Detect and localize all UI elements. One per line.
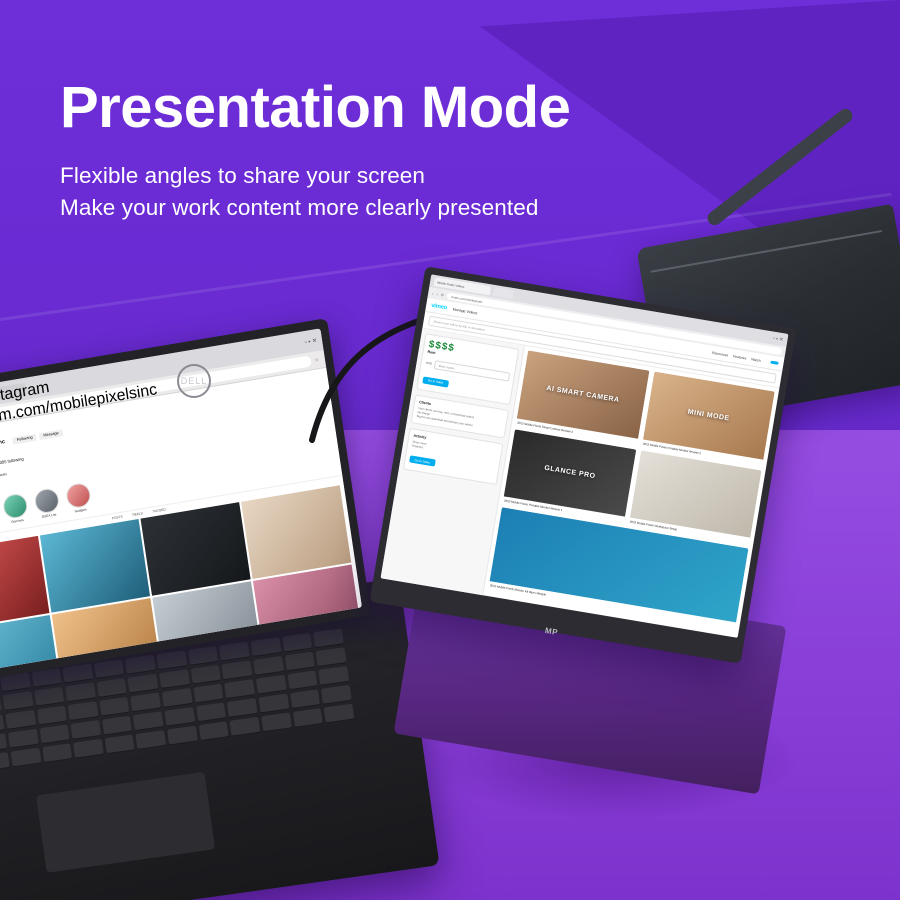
highlight-item[interactable]: Geminos	[2, 492, 30, 525]
highlight-label: Gadgets	[68, 506, 92, 514]
profile-username: mobilepixelsinc	[0, 439, 5, 452]
page-subtitle: Flexible angles to share your screen Mak…	[60, 160, 840, 224]
following-button[interactable]: Following	[12, 433, 37, 444]
back-icon[interactable]: ‹	[432, 291, 434, 296]
portable-monitor: Mobile Pixels Videos ▫ ▪ ✕ ‹ › ⟳ vimeo.c…	[395, 295, 815, 815]
video-grid: AI SMART CAMERA 2022 Mobile Pixels Smart…	[488, 350, 774, 628]
sidebar-card-rent: $$$$ Rent USD Enter a price Go to Sales	[416, 333, 519, 405]
tab-posts[interactable]: POSTS	[112, 514, 123, 520]
go-to-sales-button-1[interactable]: Go to Sales	[422, 376, 448, 387]
window-controls[interactable]: ▫ ▪ ✕	[773, 335, 784, 343]
post-thumbnail[interactable]	[40, 519, 150, 613]
go-to-sales-button-2[interactable]: Go to Sales	[409, 456, 435, 467]
dell-logo: DELL	[177, 364, 211, 398]
highlight-label: Geminos	[5, 517, 29, 525]
video-grid-container: AI SMART CAMERA 2022 Mobile Pixels Smart…	[481, 346, 779, 638]
video-card[interactable]: MINI MODE 2022 Mobile Pixels Portable Mo…	[642, 371, 775, 465]
highlight-item[interactable]: Gadgets	[65, 481, 93, 514]
monitor-screen: Mobile Pixels Videos ▫ ▪ ✕ ‹ › ⟳ vimeo.c…	[381, 274, 789, 638]
vimeo-logo: vimeo	[431, 302, 448, 311]
contact-sales-button[interactable]	[770, 361, 778, 365]
laptop-trackpad[interactable]	[36, 772, 215, 873]
profile-actions: Following Message	[12, 429, 63, 444]
post-thumbnail[interactable]	[241, 485, 351, 579]
message-button[interactable]: Message	[39, 429, 63, 440]
browser-tab-secondary[interactable]	[493, 287, 514, 299]
monitor-body: Mobile Pixels Videos ▫ ▪ ✕ ‹ › ⟳ vimeo.c…	[370, 266, 797, 663]
page-title: Presentation Mode	[60, 78, 840, 138]
headline-block: Presentation Mode Flexible angles to sha…	[60, 78, 840, 224]
watch-link[interactable]: Watch	[751, 357, 761, 363]
highlight-item[interactable]: DUEX Lite	[33, 487, 61, 520]
highlight-label: DUEX Lite	[37, 511, 61, 519]
browser-tab-secondary[interactable]: Instagram	[0, 382, 27, 403]
video-card[interactable]: 2022 Mobile Pixels Workspace Setup	[628, 450, 761, 544]
sidebar-card-activity: Activity Show more Featured Go to Sales	[403, 427, 504, 484]
mobile-pixels-logo: MP	[544, 626, 558, 637]
nav-resources[interactable]: Resources	[712, 350, 729, 357]
video-card[interactable]: AI SMART CAMERA 2022 Mobile Pixels Smart…	[516, 350, 649, 444]
forward-icon[interactable]: ›	[436, 292, 438, 297]
nav-features[interactable]: Features	[733, 354, 747, 360]
post-thumbnail[interactable]	[140, 502, 250, 596]
window-controls[interactable]: ▫ ▪ ✕	[304, 337, 317, 346]
laptop: Mobile Pixels Instagram ▫ ▪ ✕ ‹ › ⟳ inst…	[0, 352, 442, 900]
poster-image: Presentation Mode Flexible angles to sha…	[0, 0, 900, 900]
subtitle-line-1: Flexible angles to share your screen	[60, 163, 425, 188]
manage-videos-label[interactable]: Manage Videos	[452, 307, 477, 315]
tab-tagged[interactable]: TAGGED	[152, 507, 166, 513]
subtitle-line-2: Make your work content more clearly pres…	[60, 195, 538, 220]
currency-label[interactable]: USD	[425, 360, 432, 365]
tab-reels[interactable]: REELS	[132, 511, 143, 517]
star-icon[interactable]: ☆	[314, 357, 319, 364]
video-card[interactable]: GLANCE PRO 2022 Mobile Pixels Portable M…	[503, 429, 636, 523]
post-thumbnail[interactable]	[0, 615, 61, 676]
reload-icon[interactable]: ⟳	[440, 292, 444, 297]
